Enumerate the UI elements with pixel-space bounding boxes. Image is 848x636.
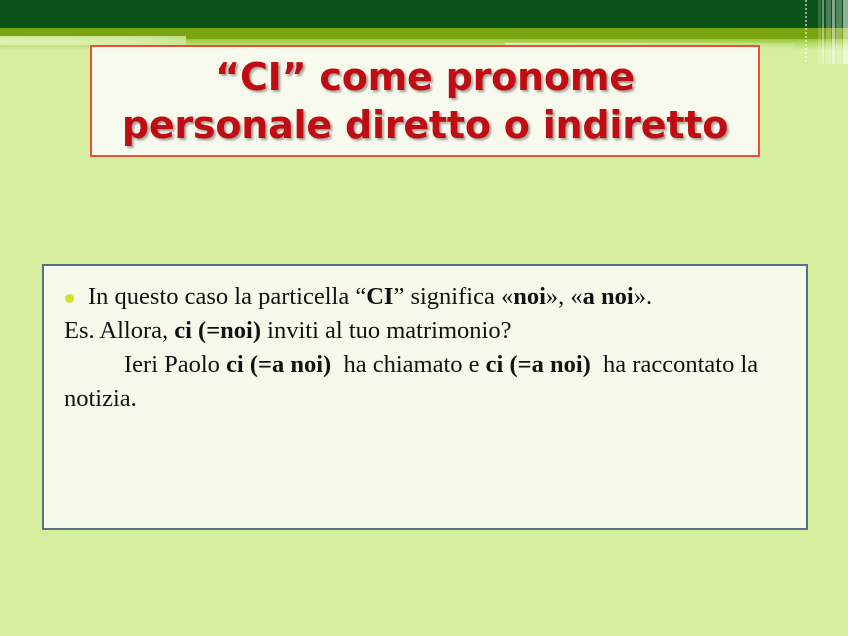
decorative-vertical-stripe-4 bbox=[832, 0, 835, 64]
example-paragraph-2: Ieri Paolo ci (=a noi) ha chiamato e ci … bbox=[52, 348, 790, 416]
decorative-dotted-stripe bbox=[805, 0, 807, 64]
decorative-vertical-stripe-5 bbox=[836, 0, 842, 64]
bullet-text-part-2: ” significa « bbox=[393, 283, 513, 310]
decorative-vertical-stripe-3 bbox=[826, 0, 831, 64]
decorative-vertical-stripe-6 bbox=[843, 0, 848, 64]
top-light-streak-left bbox=[0, 36, 186, 45]
bullet-text-part-4: ». bbox=[634, 283, 652, 310]
bullet-dot-icon bbox=[65, 294, 74, 303]
bold-term-ci-uppercase: CI bbox=[366, 283, 393, 310]
bullet-paragraph: In questo caso la particella “CI” signif… bbox=[52, 280, 790, 314]
bullet-text-part-3: », « bbox=[546, 283, 583, 310]
bullet-text-part-1: In questo caso la particella “ bbox=[88, 283, 366, 310]
bold-term-ci-a-noi-1: ci (=a noi) bbox=[226, 351, 331, 378]
bold-term-a-noi: a noi bbox=[583, 283, 634, 310]
example1-text-part-2: inviti al tuo matrimonio? bbox=[261, 317, 511, 344]
decorative-vertical-stripe-1 bbox=[818, 0, 821, 64]
content-box: In questo caso la particella “CI” signif… bbox=[42, 264, 808, 530]
example-paragraph-1: Es. Allora, ci (=noi) inviti al tuo matr… bbox=[52, 314, 790, 348]
decorative-vertical-stripe-2 bbox=[822, 0, 824, 64]
bold-term-ci-noi: ci (=noi) bbox=[174, 317, 261, 344]
example2-text-part-2: ha chiamato e bbox=[331, 351, 485, 378]
title-box: “CI” come pronome personale diretto o in… bbox=[90, 45, 760, 157]
example1-text-part-1: Es. Allora, bbox=[64, 317, 174, 344]
page-title: “CI” come pronome personale diretto o in… bbox=[114, 53, 736, 149]
bold-term-noi: noi bbox=[513, 283, 546, 310]
top-dark-green-band bbox=[0, 0, 848, 28]
example2-text-part-1: Ieri Paolo bbox=[124, 351, 226, 378]
slide: “CI” come pronome personale diretto o in… bbox=[0, 0, 848, 636]
bold-term-ci-a-noi-2: ci (=a noi) bbox=[486, 351, 591, 378]
